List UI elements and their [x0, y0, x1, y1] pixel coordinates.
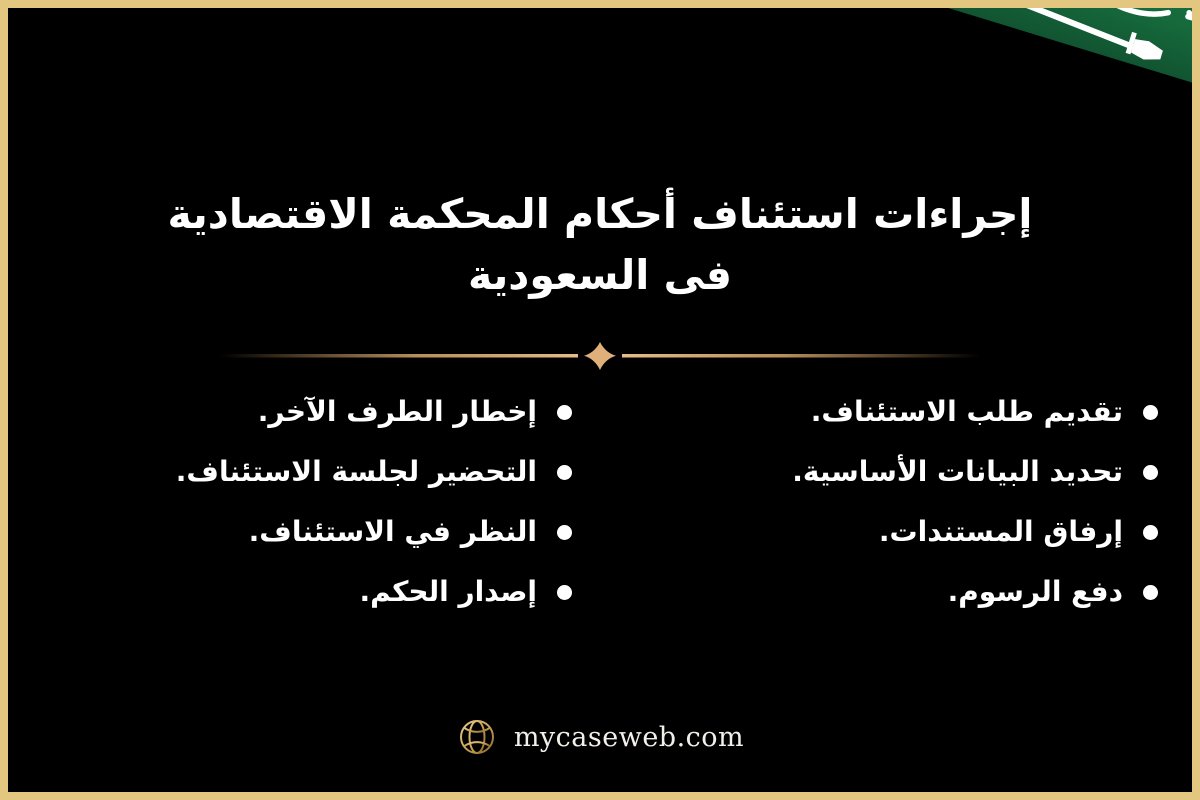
saudi-arabia-flag-icon	[841, 0, 1200, 92]
bullet-dot-icon	[1143, 465, 1158, 480]
list-item: دفع الرسوم.	[628, 572, 1158, 616]
steps-column-right: تقديم طلب الاستئناف. تحديد البيانات الأس…	[628, 392, 1158, 632]
steps-column-left: إخطار الطرف الآخر. التحضير لجلسة الاستئن…	[42, 392, 572, 632]
list-item-label: إصدار الحكم.	[42, 572, 537, 612]
footer-brand: mycaseweb.com	[8, 716, 1192, 758]
bullet-dot-icon	[557, 525, 572, 540]
brand-label: mycaseweb.com	[514, 722, 744, 753]
list-item-label: تقديم طلب الاستئناف.	[628, 392, 1123, 432]
list-item-label: إرفاق المستندات.	[628, 512, 1123, 552]
list-item-label: النظر في الاستئناف.	[42, 512, 537, 552]
list-item: النظر في الاستئناف.	[42, 512, 572, 556]
gold-diamond-divider	[8, 338, 1192, 374]
globe-icon	[456, 716, 498, 758]
bullet-dot-icon	[557, 585, 572, 600]
list-item-label: دفع الرسوم.	[628, 572, 1123, 612]
bullet-dot-icon	[557, 465, 572, 480]
list-item: تحديد البيانات الأساسية.	[628, 452, 1158, 496]
bullet-dot-icon	[557, 405, 572, 420]
bullet-dot-icon	[1143, 585, 1158, 600]
page-title: إجراءات استئناف أحكام المحكمة الاقتصادية…	[8, 184, 1192, 305]
list-item: إرفاق المستندات.	[628, 512, 1158, 556]
list-item-label: التحضير لجلسة الاستئناف.	[42, 452, 537, 492]
bullet-dot-icon	[1143, 405, 1158, 420]
title-line-1: إجراءات استئناف أحكام المحكمة الاقتصادية	[94, 184, 1106, 245]
steps-columns: تقديم طلب الاستئناف. تحديد البيانات الأس…	[8, 392, 1192, 632]
list-item-label: إخطار الطرف الآخر.	[42, 392, 537, 432]
list-item: تقديم طلب الاستئناف.	[628, 392, 1158, 436]
list-item: التحضير لجلسة الاستئناف.	[42, 452, 572, 496]
list-item-label: تحديد البيانات الأساسية.	[628, 452, 1123, 492]
bullet-dot-icon	[1143, 525, 1158, 540]
list-item: إصدار الحكم.	[42, 572, 572, 616]
list-item: إخطار الطرف الآخر.	[42, 392, 572, 436]
title-line-2: فى السعودية	[94, 245, 1106, 306]
poster-canvas: إجراءات استئناف أحكام المحكمة الاقتصادية…	[0, 0, 1200, 800]
